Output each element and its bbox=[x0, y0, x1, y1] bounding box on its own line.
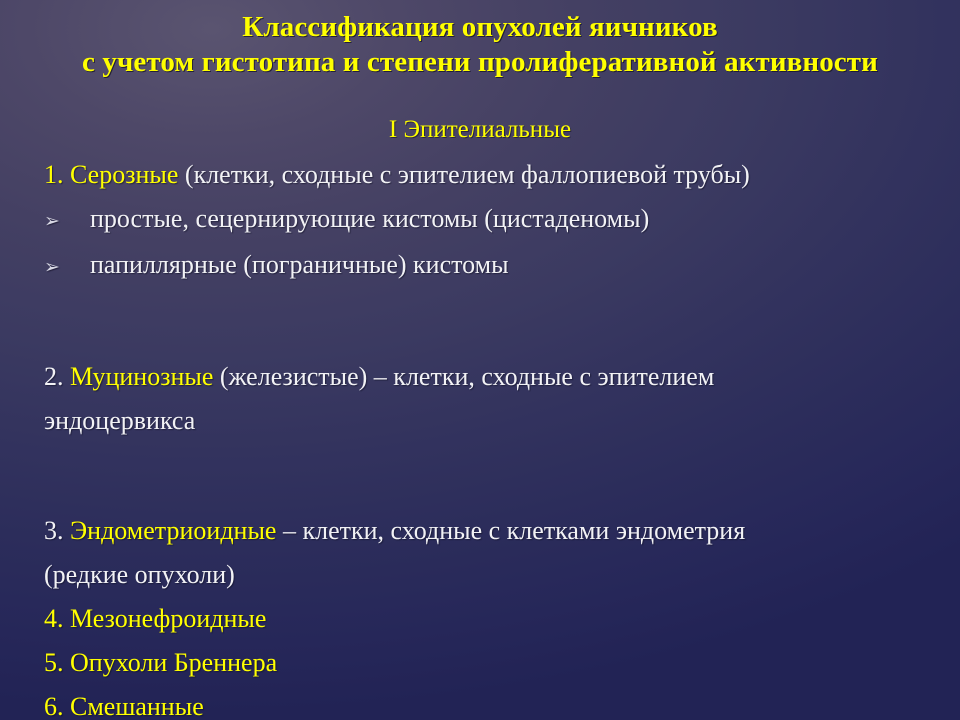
section-header-epithelial: I Эпителиальные bbox=[0, 115, 960, 145]
list-item-5-term: Опухоли Бреннера bbox=[70, 648, 277, 677]
list-item-1-term: Серозные bbox=[70, 160, 178, 189]
list-item-2: 2. Муцинозные (железистые) – клетки, схо… bbox=[44, 355, 934, 399]
list-item-6-term: Смешанные bbox=[70, 692, 204, 720]
list-item-4-number: 4. bbox=[44, 604, 64, 633]
list-item-4: 4. Мезонефроидные bbox=[44, 597, 934, 641]
spacer-1 bbox=[44, 289, 934, 333]
slide-body: 1. Серозные (клетки, сходные с эпителием… bbox=[44, 153, 934, 720]
list-item-5: 5. Опухоли Бреннера bbox=[44, 641, 934, 685]
list-item-3-rest: – клетки, сходные с клетками эндометрия bbox=[283, 516, 745, 545]
list-item-3-number: 3. bbox=[44, 516, 64, 545]
spacer-2 bbox=[44, 443, 934, 487]
list-item-3-continuation: (редкие опухоли) bbox=[44, 553, 934, 597]
title-line-1: Классификация опухолей яичников bbox=[0, 10, 960, 45]
list-item-4-term: Мезонефроидные bbox=[70, 604, 266, 633]
list-item-1-number: 1. bbox=[44, 160, 64, 189]
list-item-2-continuation: эндоцервикса bbox=[44, 399, 934, 443]
list-item-3-term: Эндометриоидные bbox=[70, 516, 276, 545]
list-item-2-term: Муцинозные bbox=[70, 362, 213, 391]
list-item-2-number: 2. bbox=[44, 362, 64, 391]
spacer-2b bbox=[44, 487, 934, 509]
slide-canvas: Классификация опухолей яичников с учетом… bbox=[0, 0, 960, 720]
list-item-1-rest: (клетки, сходные с эпителием фаллопиевой… bbox=[185, 160, 750, 189]
list-item-1: 1. Серозные (клетки, сходные с эпителием… bbox=[44, 153, 934, 197]
list-item-6: 6. Смешанные bbox=[44, 685, 934, 720]
list-item-bullet-2: ➢ папиллярные (пограничные) кистомы bbox=[44, 243, 934, 289]
title-line-2: с учетом гистотипа и степени пролиферати… bbox=[0, 45, 960, 80]
list-item-bullet-2-label: папиллярные (пограничные) кистомы bbox=[90, 243, 934, 287]
arrow-bullet-icon: ➢ bbox=[44, 245, 90, 289]
list-item-2-rest: (железистые) – клетки, сходные с эпители… bbox=[220, 362, 714, 391]
list-item-5-number: 5. bbox=[44, 648, 64, 677]
spacer-1b bbox=[44, 333, 934, 355]
list-item-6-number: 6. bbox=[44, 692, 64, 720]
slide-title: Классификация опухолей яичников с учетом… bbox=[0, 10, 960, 81]
list-item-bullet-1-label: простые, сецернирующие кистомы (цистаден… bbox=[90, 197, 934, 241]
arrow-bullet-icon: ➢ bbox=[44, 199, 90, 243]
list-item-3: 3. Эндометриоидные – клетки, сходные с к… bbox=[44, 509, 934, 553]
list-item-bullet-1: ➢ простые, сецернирующие кистомы (цистад… bbox=[44, 197, 934, 243]
